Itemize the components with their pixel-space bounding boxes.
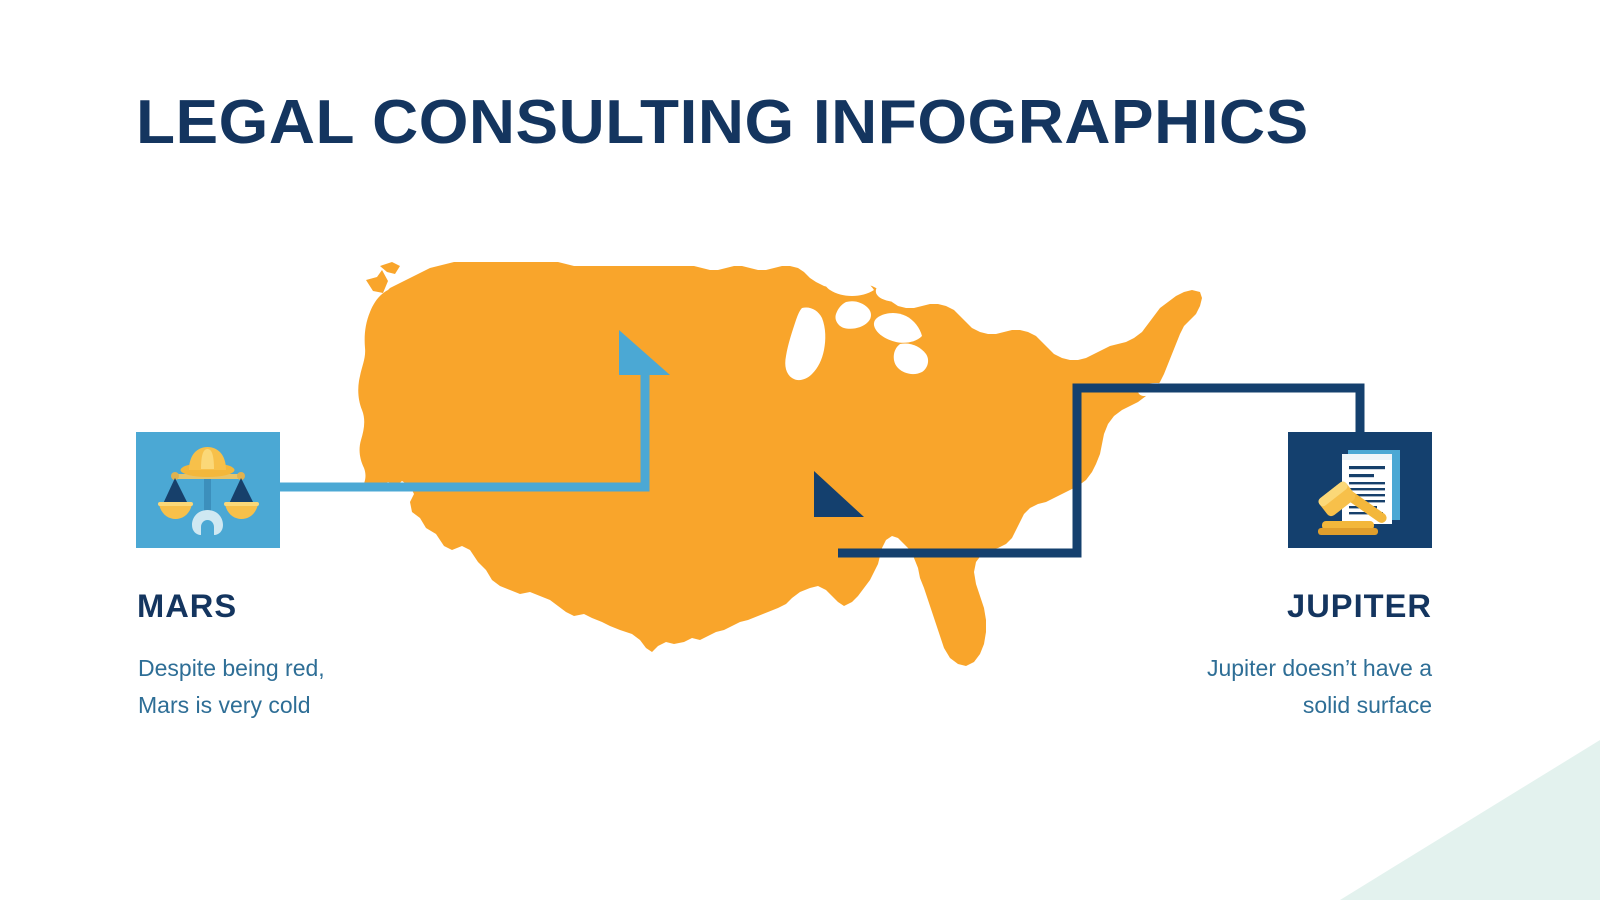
mint-corner-triangle: [1340, 740, 1600, 900]
item-description-jupiter: Jupiter doesn’t have a solid surface: [1112, 650, 1432, 724]
item-description-jupiter-line2: solid surface: [1112, 687, 1432, 724]
legal-document-gavel-icon: [1308, 442, 1412, 538]
united-states-map: [340, 250, 1240, 695]
page-title: LEGAL CONSULTING INFOGRAPHICS: [136, 88, 1309, 158]
item-description-mars: Despite being red, Mars is very cold: [138, 650, 458, 724]
scales-of-justice-helmet-wrench-icon: [156, 442, 260, 538]
item-description-mars-line2: Mars is very cold: [138, 687, 458, 724]
slide-canvas: LEGAL CONSULTING INFOGRAPHICS: [0, 0, 1600, 900]
icon-box-jupiter[interactable]: [1288, 432, 1432, 548]
item-description-mars-line1: Despite being red,: [138, 650, 458, 687]
item-description-jupiter-line1: Jupiter doesn’t have a: [1112, 650, 1432, 687]
map-shape: [358, 262, 1202, 666]
icon-box-mars[interactable]: [136, 432, 280, 548]
item-label-mars: MARS: [137, 588, 237, 625]
item-label-jupiter: JUPITER: [1104, 588, 1432, 625]
